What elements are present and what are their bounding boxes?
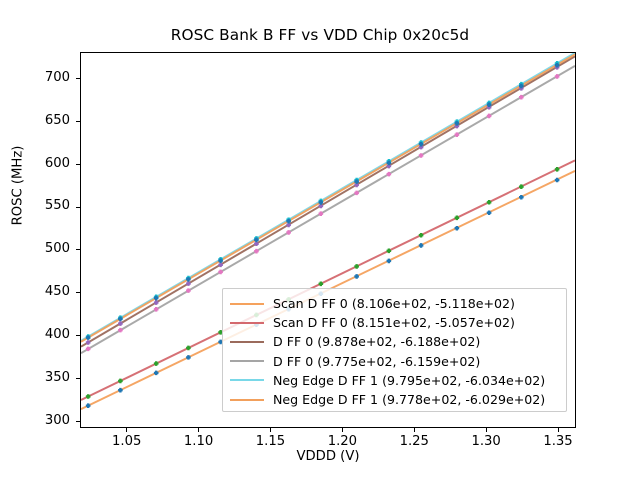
legend-item[interactable]: Scan D FF 0 (8.106e+02, -5.118e+02): [230, 294, 558, 313]
legend-label: D FF 0 (9.878e+02, -6.188e+02): [273, 332, 480, 351]
x-tick-mark: [486, 428, 487, 432]
legend-label: Scan D FF 0 (8.151e+02, -5.057e+02): [273, 313, 515, 332]
y-tick-label: 600: [4, 156, 70, 171]
matplotlib-figure: ROSC Bank B FF vs VDD Chip 0x20c5d ROSC …: [0, 0, 640, 480]
y-tick-label: 350: [4, 370, 70, 385]
legend-item[interactable]: Neg Edge D FF 1 (9.795e+02, -6.034e+02): [230, 371, 558, 390]
legend-line-swatch: [230, 303, 264, 305]
legend-label: D FF 0 (9.775e+02, -6.159e+02): [273, 352, 480, 371]
x-tick-label: 1.20: [312, 434, 372, 449]
legend-item[interactable]: D FF 0 (9.878e+02, -6.188e+02): [230, 332, 558, 351]
legend-item[interactable]: D FF 0 (9.775e+02, -6.159e+02): [230, 352, 558, 371]
x-tick-mark: [342, 428, 343, 432]
x-tick-mark: [198, 428, 199, 432]
legend-label: Neg Edge D FF 1 (9.795e+02, -6.034e+02): [273, 371, 545, 390]
chart-legend[interactable]: Scan D FF 0 (8.106e+02, -5.118e+02) Scan…: [222, 288, 567, 412]
x-tick-label: 1.35: [528, 434, 588, 449]
x-tick-mark: [414, 428, 415, 432]
y-tick-label: 700: [4, 70, 70, 85]
legend-line-swatch: [230, 341, 264, 343]
y-tick-label: 500: [4, 241, 70, 256]
chart-title: ROSC Bank B FF vs VDD Chip 0x20c5d: [0, 26, 640, 44]
legend-line-swatch: [230, 399, 264, 401]
y-tick-label: 300: [4, 413, 70, 428]
x-tick-mark: [558, 428, 559, 432]
legend-item[interactable]: Neg Edge D FF 1 (9.778e+02, -6.029e+02): [230, 390, 558, 409]
x-tick-label: 1.15: [240, 434, 300, 449]
x-tick-mark: [126, 428, 127, 432]
x-tick-label: 1.10: [169, 434, 229, 449]
legend-line-swatch: [230, 360, 264, 362]
y-tick-label: 650: [4, 113, 70, 128]
x-tick-label: 1.30: [456, 434, 516, 449]
legend-line-swatch: [230, 379, 264, 381]
legend-label: Scan D FF 0 (8.106e+02, -5.118e+02): [273, 294, 515, 313]
legend-label: Neg Edge D FF 1 (9.778e+02, -6.029e+02): [273, 390, 545, 409]
x-tick-mark: [270, 428, 271, 432]
legend-item[interactable]: Scan D FF 0 (8.151e+02, -5.057e+02): [230, 313, 558, 332]
y-tick-label: 400: [4, 327, 70, 342]
x-tick-label: 1.25: [384, 434, 444, 449]
legend-line-swatch: [230, 322, 264, 324]
y-tick-label: 450: [4, 284, 70, 299]
x-tick-label: 1.05: [97, 434, 157, 449]
y-tick-label: 550: [4, 198, 70, 213]
x-axis-label: VDDD (V): [80, 449, 576, 464]
